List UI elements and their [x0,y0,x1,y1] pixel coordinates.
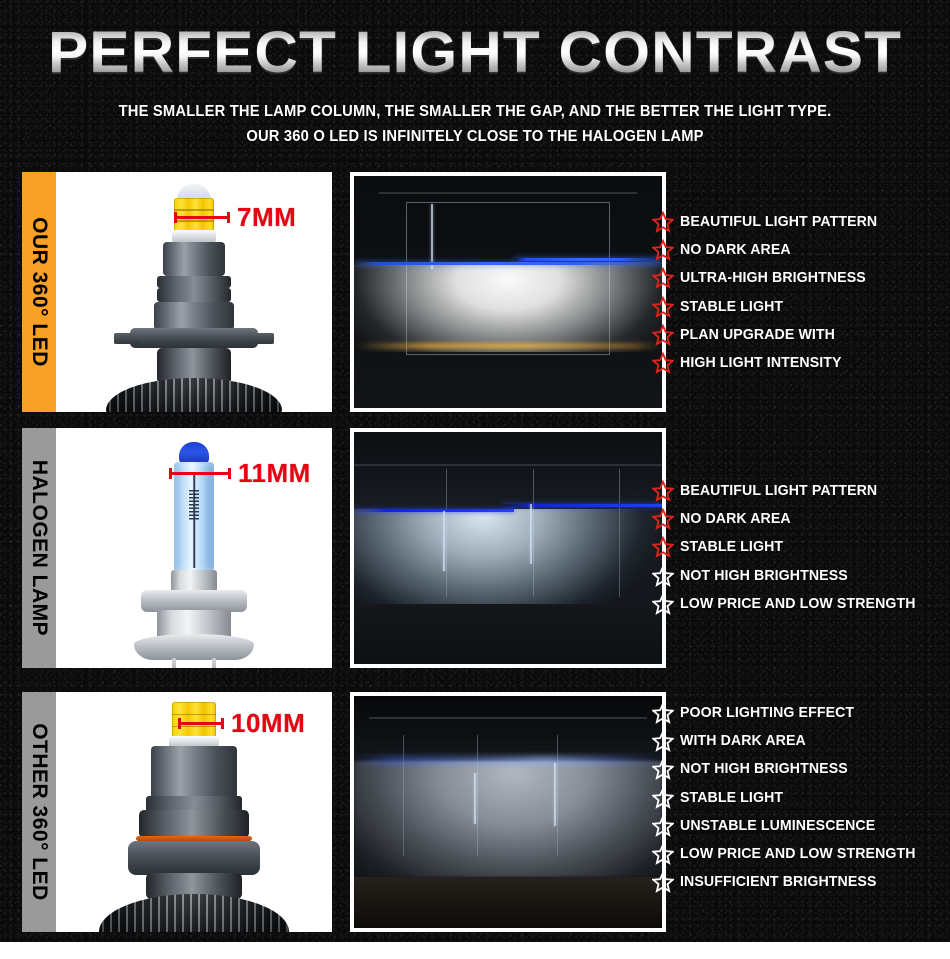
led-body-lower [154,302,234,330]
hanging-pipe-right [554,763,556,826]
feature-item: PLAN UPGRADE WITH [652,321,948,349]
feature-label: POOR LIGHTING EFFECT [680,705,854,721]
feature-label: NO DARK AREA [680,242,791,258]
row-label-text: HALOGEN LAMP [27,460,51,636]
measurement-bar [178,722,224,725]
hanging-pipe-left [474,773,476,824]
feature-item: LOW PRICE AND LOW STRENGTH [652,840,948,868]
beam-diffuse-halo [354,756,662,765]
feature-item: UNSTABLE LUMINESCENCE [652,812,948,840]
star-white-icon [652,565,674,587]
subtitle-line-2: OUR 360 O LED IS INFINITELY CLOSE TO THE… [24,128,927,146]
page-title: PERFECT LIGHT CONTRAST [0,22,950,84]
feature-label: BEAUTIFUL LIGHT PATTERN [680,214,877,230]
beam-light-wash [354,761,662,877]
measurement-bar [169,472,231,475]
led-base [139,810,249,838]
measurement-bar [174,216,230,219]
star-red-icon [652,324,674,346]
star-red-icon [652,536,674,558]
feature-item: LOW PRICE AND LOW STRENGTH [652,590,948,618]
feature-label: BEAUTIFUL LIGHT PATTERN [680,483,877,499]
star-red-icon [652,267,674,289]
measurement-value: 10MM [231,710,305,736]
beam-image-blue-cutoff [354,432,662,664]
feature-list-our-led: BEAUTIFUL LIGHT PATTERN NO DARK AREA ULT… [652,208,948,377]
comparison-row-our-led: OUR 360° LED 7M [22,172,666,412]
led-ring-2 [157,288,231,302]
feature-item: ULTRA-HIGH BRIGHTNESS [652,264,948,292]
feature-item: BEAUTIFUL LIGHT PATTERN [652,477,948,505]
beam-photo-our-led [350,172,666,412]
beam-photo-halogen [350,428,666,668]
measurement-value: 11MM [238,460,311,486]
led-body-upper [163,242,225,276]
feature-item: NOT HIGH BRIGHTNESS [652,755,948,783]
hanging-pipe-left [431,204,433,269]
feature-label: UNSTABLE LUMINESCENCE [680,818,875,834]
halogen-flange [141,590,247,612]
bulb-photo-other-led: 10MM [56,692,332,932]
bulb-flange [128,841,260,875]
bulb-photo-our-led: 7MM [56,172,332,412]
filament-stem [193,472,195,568]
halogen-base-cap [134,634,254,660]
ceiling-rail [369,717,646,719]
feature-item: STABLE LIGHT [652,533,948,561]
bottom-white-strip [0,942,950,959]
feature-label: STABLE LIGHT [680,299,783,315]
ceiling-rail [379,192,638,194]
star-white-icon [652,730,674,752]
feature-label: INSUFFICIENT BRIGHTNESS [680,874,877,890]
star-white-icon [652,702,674,724]
star-white-icon [652,758,674,780]
feature-label: NOT HIGH BRIGHTNESS [680,761,848,777]
feature-item: BEAUTIFUL LIGHT PATTERN [652,208,948,236]
beam-cutoff-step [514,258,662,261]
feature-label: ULTRA-HIGH BRIGHTNESS [680,270,866,286]
row-label-halogen: HALOGEN LAMP [22,428,56,668]
star-white-icon [652,815,674,837]
hanging-pipe-left [443,511,445,571]
feature-label: PLAN UPGRADE WITH [680,327,835,343]
filament-coil [189,490,199,520]
star-red-icon [652,296,674,318]
feature-item: POOR LIGHTING EFFECT [652,699,948,727]
floor-area [354,604,662,664]
h7-tab-right [246,333,274,344]
infographic-poster: PERFECT LIGHT CONTRAST PERFECT LIGHT CON… [0,0,950,959]
measurement-annotation-halogen: 11MM [169,460,311,486]
measurement-annotation-our-led: 7MM [174,204,296,230]
star-white-icon [652,871,674,893]
h7-tab-left [114,333,142,344]
heatsink-fins [106,378,282,412]
feature-item: NO DARK AREA [652,236,948,264]
led-ring-1 [157,276,231,288]
star-white-icon [652,843,674,865]
star-white-icon [652,787,674,809]
star-white-icon [652,593,674,615]
feature-item: NOT HIGH BRIGHTNESS [652,562,948,590]
beam-cutoff-line [354,262,662,265]
beam-light-wash [354,262,662,353]
star-red-icon [652,352,674,374]
comparison-row-halogen: HALOGEN LAMP 11MM [22,428,666,668]
feature-item: STABLE LIGHT [652,293,948,321]
feature-item: NO DARK AREA [652,505,948,533]
beam-warm-edge [354,343,662,349]
row-label-our-led: OUR 360° LED [22,172,56,412]
hanging-pipe-right [530,504,532,564]
feature-label: LOW PRICE AND LOW STRENGTH [680,596,916,612]
star-red-icon [652,211,674,233]
row-label-other-led: OTHER 360° LED [22,692,56,932]
star-red-icon [652,239,674,261]
ceiling-rail [354,464,662,466]
beam-light-wash [354,509,662,604]
beam-cutoff-line-right [502,504,662,507]
feature-label: LOW PRICE AND LOW STRENGTH [680,846,916,862]
star-red-icon [652,480,674,502]
beam-image-sharp-cutoff [354,176,662,408]
feature-label: NO DARK AREA [680,511,791,527]
feature-label: WITH DARK AREA [680,733,806,749]
feature-item: HIGH LIGHT INTENSITY [652,349,948,377]
beam-cutoff-line-left [354,509,514,512]
halogen-pin-left [172,658,176,668]
floor-area [354,877,662,928]
led-body-upper [151,746,237,800]
bulb-photo-halogen: 11MM [56,428,332,668]
row-label-text: OTHER 360° LED [27,723,51,901]
star-red-icon [652,508,674,530]
comparison-row-other-led: OTHER 360° LED 10MM [22,692,666,932]
heatsink-shading [99,894,289,932]
feature-item: WITH DARK AREA [652,727,948,755]
measurement-annotation-other-led: 10MM [178,710,305,736]
halogen-pin-right [212,658,216,668]
measurement-value: 7MM [237,204,296,230]
feature-label: NOT HIGH BRIGHTNESS [680,568,848,584]
feature-item: STABLE LIGHT [652,784,948,812]
beam-photo-other-led [350,692,666,932]
heatsink-shading [106,378,282,412]
feature-label: HIGH LIGHT INTENSITY [680,355,842,371]
feature-list-other-led: POOR LIGHTING EFFECT WITH DARK AREA NOT … [652,699,948,896]
subtitle-line-1: THE SMALLER THE LAMP COLUMN, THE SMALLER… [24,103,927,121]
feature-label: STABLE LIGHT [680,790,783,806]
feature-item: INSUFFICIENT BRIGHTNESS [652,868,948,896]
halogen-metal-sleeve [171,570,217,592]
heatsink-fins [99,894,289,932]
feature-list-halogen: BEAUTIFUL LIGHT PATTERN NO DARK AREA STA… [652,477,948,618]
beam-image-diffuse [354,696,662,928]
h7-flange [130,328,258,348]
feature-label: STABLE LIGHT [680,539,783,555]
row-label-text: OUR 360° LED [27,217,51,367]
